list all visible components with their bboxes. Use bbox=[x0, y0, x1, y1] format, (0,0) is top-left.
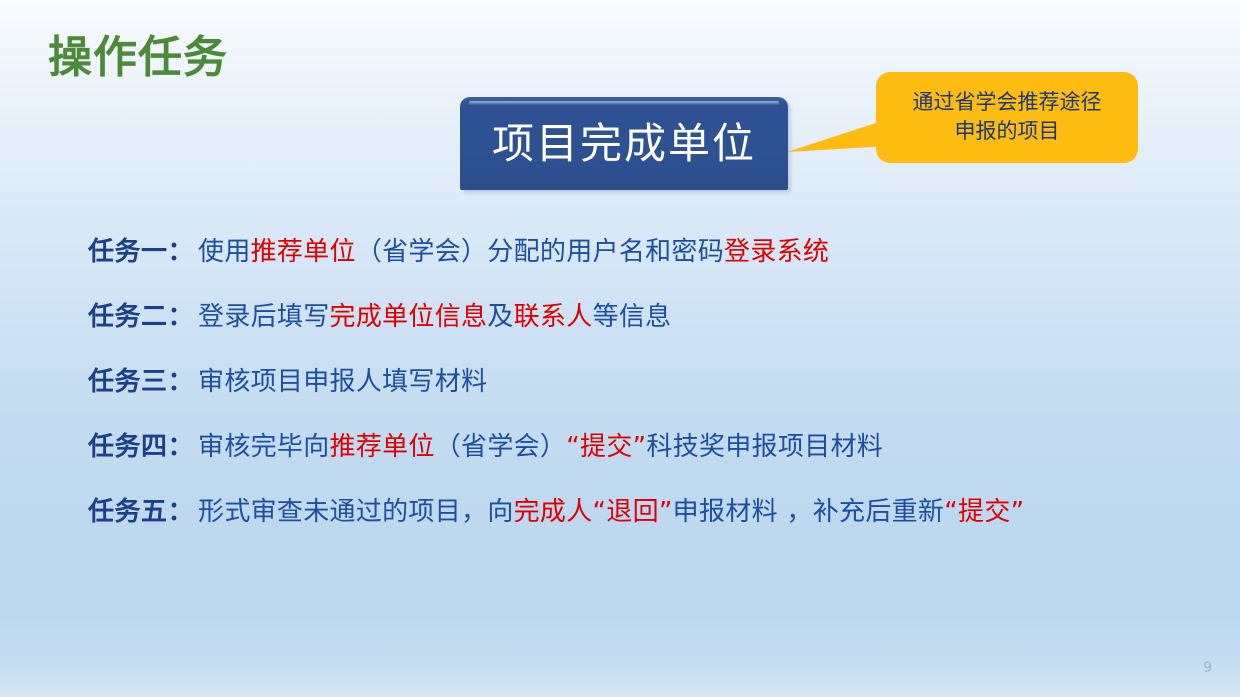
task-description: 审核项目申报人填写材料 bbox=[198, 361, 487, 398]
task-text-segment: 登录后填写 bbox=[198, 302, 330, 332]
task-text-segment: （省学会） bbox=[435, 432, 567, 462]
task-text-highlight: 联系人 bbox=[514, 302, 593, 332]
task-text-segment: 使用 bbox=[198, 237, 251, 267]
task-text-highlight: 推荐单位 bbox=[251, 237, 356, 267]
task-text-highlight: 推荐单位 bbox=[330, 432, 435, 462]
task-description: 使用推荐单位（省学会）分配的用户名和密码登录系统 bbox=[198, 231, 829, 268]
task-text-highlight: 登录系统 bbox=[724, 237, 829, 267]
task-text-highlight: 完成人 bbox=[514, 497, 593, 527]
task-text-segment: 形式审查未通过的项目，向 bbox=[198, 497, 514, 527]
task-text-segment: （省学会）分配的用户名和密码 bbox=[356, 237, 724, 267]
callout-line-2: 申报的项目 bbox=[886, 118, 1128, 148]
task-text-highlight: “退回” bbox=[593, 497, 673, 527]
task-text-highlight: “提交” bbox=[944, 497, 1024, 527]
task-label: 任务一： bbox=[88, 231, 198, 268]
task-text-segment: 审核项目申报人填写材料 bbox=[198, 367, 487, 397]
task-description: 形式审查未通过的项目，向完成人“退回”申报材料 ，补充后重新“提交” bbox=[198, 491, 1024, 528]
task-text-segment: 等信息 bbox=[593, 302, 672, 332]
task-list: 任务一：使用推荐单位（省学会）分配的用户名和密码登录系统任务二：登录后填写完成单… bbox=[88, 231, 1188, 556]
task-row: 任务三：审核项目申报人填写材料 bbox=[88, 361, 1188, 426]
slide-canvas: 操作任务 项目完成单位 通过省学会推荐途径 申报的项目 任务一：使用推荐单位（省… bbox=[0, 0, 1240, 697]
task-row: 任务二：登录后填写完成单位信息及联系人等信息 bbox=[88, 296, 1188, 361]
task-label: 任务五： bbox=[88, 491, 198, 528]
task-label: 任务四： bbox=[88, 426, 198, 463]
task-text-highlight: “提交” bbox=[566, 432, 646, 462]
task-row: 任务一：使用推荐单位（省学会）分配的用户名和密码登录系统 bbox=[88, 231, 1188, 296]
task-description: 审核完毕向推荐单位（省学会）“提交”科技奖申报项目材料 bbox=[198, 426, 883, 463]
task-text-highlight: 完成单位信息 bbox=[330, 302, 488, 332]
task-description: 登录后填写完成单位信息及联系人等信息 bbox=[198, 296, 671, 333]
callout-bubble: 通过省学会推荐途径 申报的项目 bbox=[876, 72, 1138, 163]
task-text-segment: 科技奖申报项目材料 bbox=[646, 432, 883, 462]
task-text-segment: 及 bbox=[487, 302, 513, 332]
headline-box: 项目完成单位 bbox=[460, 97, 788, 190]
task-row: 任务五：形式审查未通过的项目，向完成人“退回”申报材料 ，补充后重新“提交” bbox=[88, 491, 1188, 556]
task-text-segment: 审核完毕向 bbox=[198, 432, 330, 462]
task-label: 任务二： bbox=[88, 296, 198, 333]
task-label: 任务三： bbox=[88, 361, 198, 398]
task-row: 任务四：审核完毕向推荐单位（省学会）“提交”科技奖申报项目材料 bbox=[88, 426, 1188, 491]
page-title: 操作任务 bbox=[48, 34, 228, 82]
callout-text: 通过省学会推荐途径 申报的项目 bbox=[886, 88, 1128, 148]
callout-line-1: 通过省学会推荐途径 bbox=[886, 88, 1128, 118]
headline-label: 项目完成单位 bbox=[460, 120, 788, 166]
task-text-segment: 申报材料 ，补充后重新 bbox=[673, 497, 945, 527]
page-number: 9 bbox=[1203, 660, 1212, 676]
